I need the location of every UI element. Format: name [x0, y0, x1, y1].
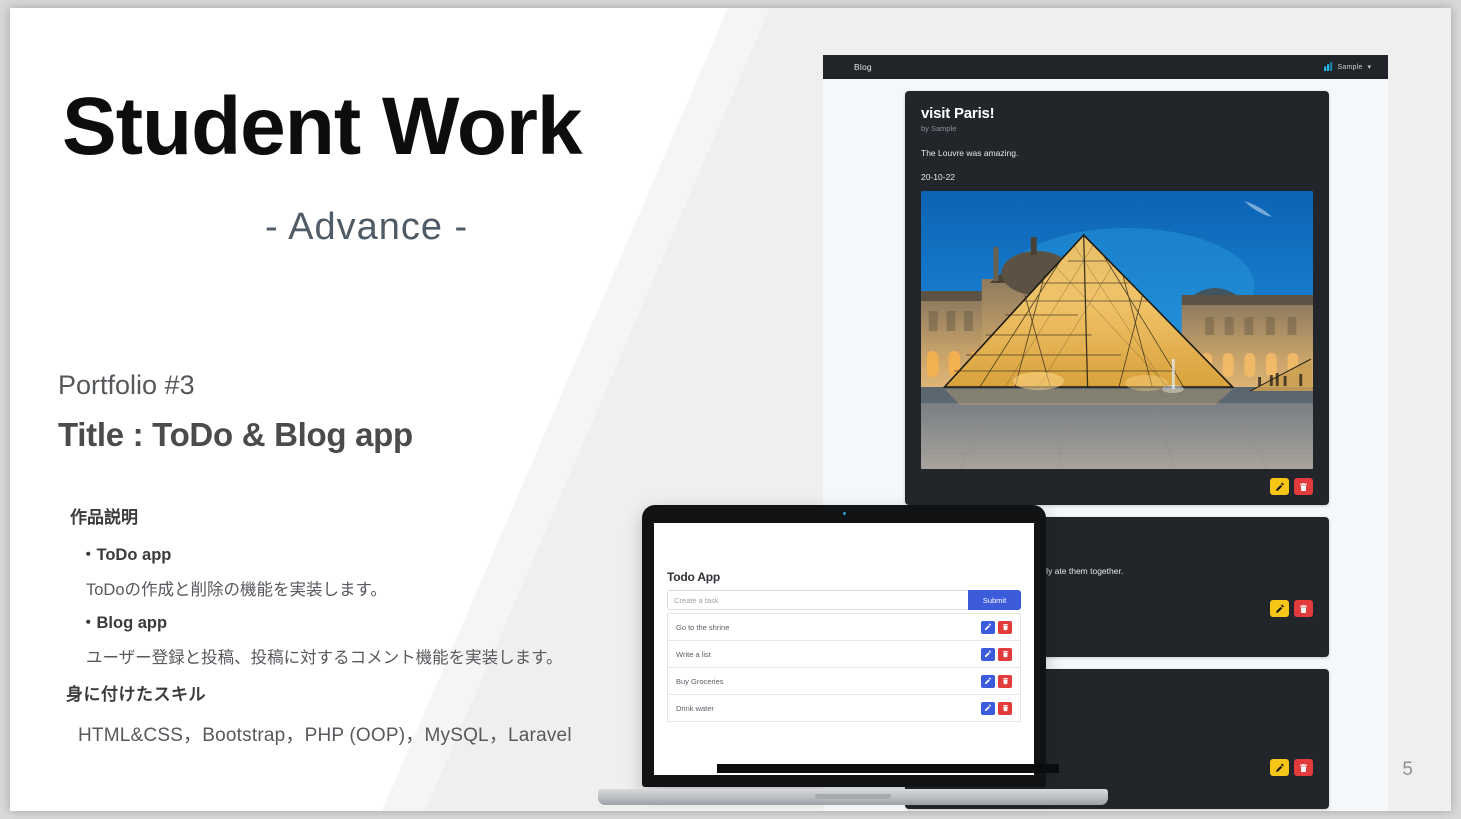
- todo-app-screenshot: Todo App Create a task Submit Go to the …: [654, 523, 1034, 722]
- trash-icon[interactable]: [998, 648, 1012, 661]
- webcam-icon: [843, 512, 846, 515]
- chevron-down-icon: ▾: [1367, 64, 1371, 71]
- task-label: Drink water: [676, 704, 714, 713]
- list-item[interactable]: Buy Groceries: [668, 668, 1020, 695]
- trash-icon[interactable]: [1294, 600, 1313, 617]
- todo-app-title: Todo App: [667, 570, 1021, 584]
- edit-icon[interactable]: [981, 675, 995, 688]
- post-title: visit Paris!: [921, 105, 1313, 122]
- slide-subtitle: - Advance -: [265, 206, 468, 249]
- trash-icon[interactable]: [998, 621, 1012, 634]
- list-item[interactable]: Write a list: [668, 641, 1020, 668]
- post-body-text: The Louvre was amazing.: [921, 148, 1313, 158]
- edit-icon[interactable]: [1270, 759, 1289, 776]
- laptop-lid: Todo App Create a task Submit Go to the …: [642, 505, 1046, 787]
- task-label: Go to the shrine: [676, 623, 729, 632]
- todo-create-form: Create a task Submit: [667, 590, 1021, 610]
- blog-user-name: Sample: [1338, 64, 1363, 71]
- list-item[interactable]: Go to the shrine: [668, 614, 1020, 641]
- submit-button[interactable]: Submit: [968, 590, 1021, 610]
- blog-navbar: Blog Sample ▾: [823, 55, 1388, 79]
- louvre-pyramid-photo: [921, 191, 1313, 469]
- laptop-mockup: Todo App Create a task Submit Go to the …: [598, 505, 1108, 805]
- post-date: 20-10-22: [921, 172, 1313, 182]
- trash-icon[interactable]: [998, 675, 1012, 688]
- description-blog-app: ユーザー登録と投稿、投稿に対するコメント機能を実装します。: [86, 644, 563, 668]
- skills-list: HTML&CSS，Bootstrap，PHP (OOP)，MySQL，Larav…: [78, 720, 572, 747]
- laptop-base: [598, 789, 1108, 805]
- section-heading-description: 作品説明: [70, 503, 138, 528]
- laptop-screen: Todo App Create a task Submit Go to the …: [654, 523, 1034, 775]
- blog-post-card: visit Paris! by Sample The Louvre was am…: [905, 91, 1329, 505]
- edit-icon[interactable]: [1270, 600, 1289, 617]
- task-list: Go to the shrine: [667, 613, 1021, 722]
- task-actions: [981, 648, 1012, 661]
- description-todo-app: ToDoの作成と削除の機能を実装します。: [86, 576, 387, 600]
- blog-brand-label[interactable]: Blog: [854, 62, 872, 72]
- presentation-slide: Student Work - Advance - Portfolio #3 Ti…: [10, 8, 1451, 811]
- blog-user-menu[interactable]: Sample ▾: [1324, 58, 1371, 76]
- section-heading-skills: 身に付けたスキル: [66, 680, 206, 705]
- slide-title: Student Work: [62, 86, 581, 168]
- post-actions: [921, 478, 1313, 495]
- task-input[interactable]: Create a task: [667, 590, 968, 610]
- post-author: by Sample: [921, 124, 1313, 133]
- trash-icon[interactable]: [1294, 759, 1313, 776]
- list-item[interactable]: Drink water: [668, 695, 1020, 722]
- task-label: Write a list: [676, 650, 711, 659]
- slide-page-number: 5: [1402, 759, 1413, 781]
- bullet-blog-app: ・Blog app: [80, 609, 167, 633]
- edit-icon[interactable]: [981, 648, 995, 661]
- edit-icon[interactable]: [1270, 478, 1289, 495]
- bullet-todo-app: ・ToDo app: [80, 541, 171, 565]
- edit-icon[interactable]: [981, 702, 995, 715]
- task-actions: [981, 702, 1012, 715]
- trash-icon[interactable]: [998, 702, 1012, 715]
- portfolio-number: Portfolio #3: [58, 370, 195, 401]
- page-title: Title : ToDo & Blog app: [58, 416, 413, 454]
- edit-icon[interactable]: [981, 621, 995, 634]
- bar-chart-icon: [1324, 58, 1333, 76]
- task-actions: [981, 675, 1012, 688]
- laptop-hinge: [717, 764, 1059, 773]
- task-actions: [981, 621, 1012, 634]
- trash-icon[interactable]: [1294, 478, 1313, 495]
- task-label: Buy Groceries: [676, 677, 724, 686]
